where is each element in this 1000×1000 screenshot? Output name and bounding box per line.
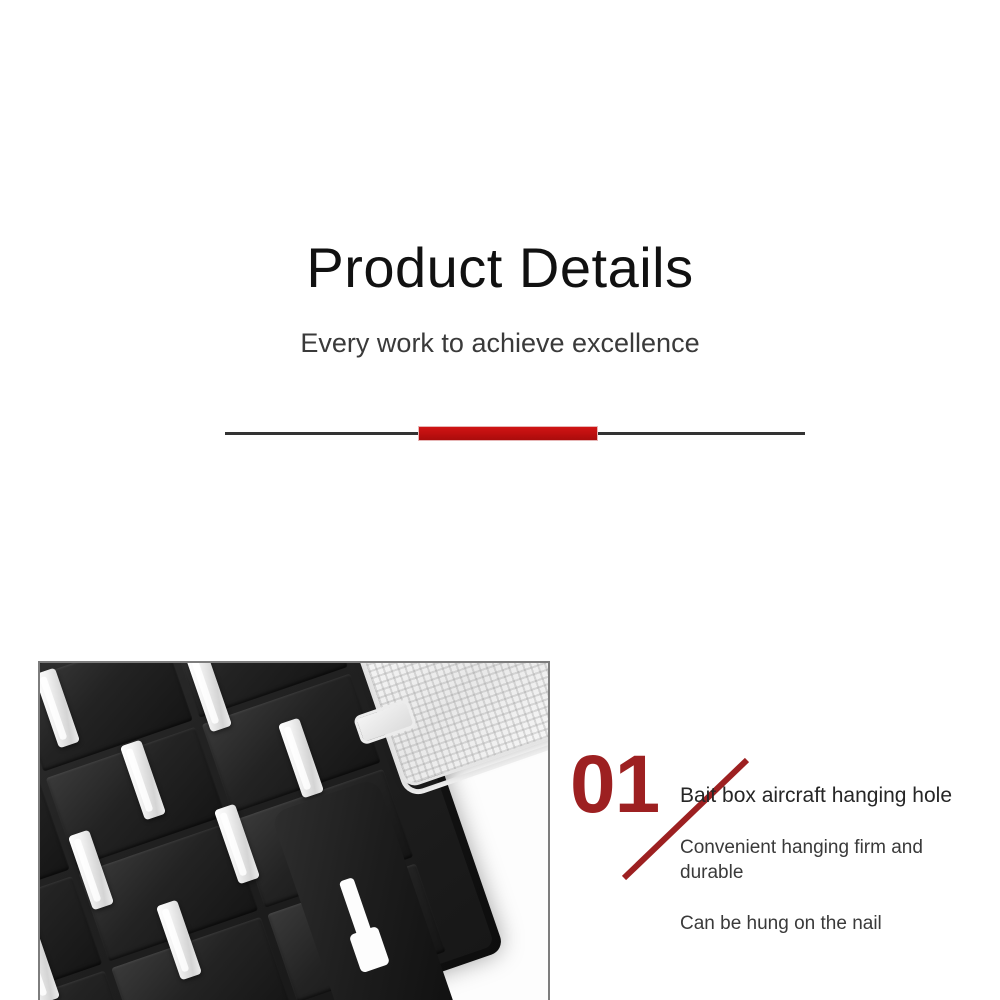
- feature-callout-01: 01 Bait box aircraft hanging hole Conven…: [570, 744, 990, 974]
- callout-detail-line: Can be hung on the nail: [680, 885, 990, 936]
- product-details-page: Product Details Every work to achieve ex…: [0, 0, 1000, 1000]
- product-photo: [38, 661, 550, 1000]
- header-block: Product Details Every work to achieve ex…: [0, 236, 1000, 360]
- page-title: Product Details: [0, 236, 1000, 300]
- section-divider: [225, 424, 805, 444]
- product-photo-inner: [40, 663, 548, 1000]
- callout-detail-line: Convenient hanging firm and durable: [680, 809, 990, 885]
- callout-heading: Bait box aircraft hanging hole: [680, 782, 990, 809]
- callout-text-group: Bait box aircraft hanging hole Convenien…: [680, 782, 990, 936]
- divider-accent-bar: [418, 426, 598, 441]
- callout-number: 01: [570, 744, 659, 826]
- page-subtitle: Every work to achieve excellence: [0, 300, 1000, 360]
